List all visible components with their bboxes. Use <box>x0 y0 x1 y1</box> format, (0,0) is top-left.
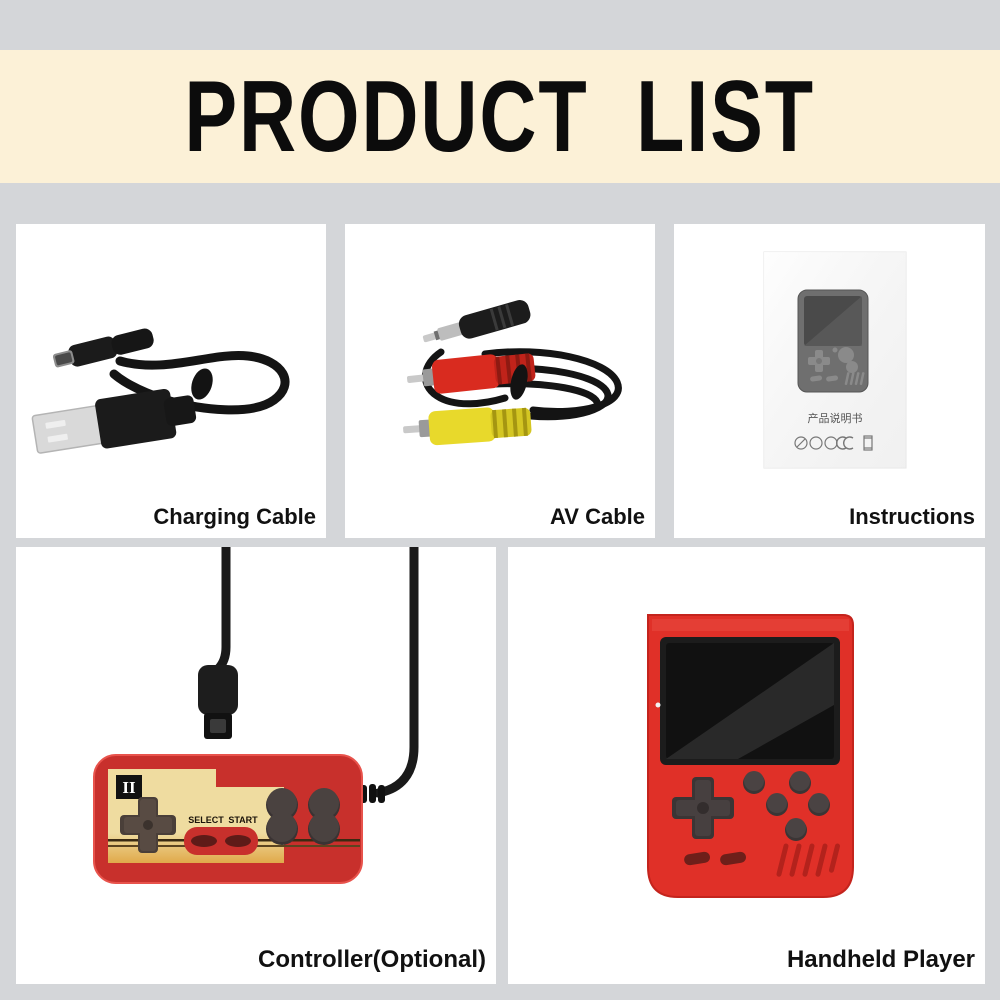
product-label-instructions: Instructions <box>849 504 975 530</box>
product-card-charging-cable[interactable]: Charging Cable <box>16 224 326 538</box>
product-card-handheld[interactable]: Handheld Player <box>508 547 985 984</box>
controller-image: II SELECT START <box>16 547 496 984</box>
product-card-av-cable[interactable]: AV Cable <box>345 224 655 538</box>
page-title: PRODUCT LIST <box>185 66 816 167</box>
product-label-handheld: Handheld Player <box>787 946 975 974</box>
controller-select-label: SELECT <box>188 815 224 825</box>
charging-cable-image <box>16 224 326 538</box>
product-card-controller[interactable]: II SELECT START <box>16 547 496 984</box>
product-card-instructions[interactable]: 产品说明书 <box>674 224 985 538</box>
product-list-page: PRODUCT LIST <box>0 0 1000 1000</box>
controller-player-badge: II <box>122 778 136 797</box>
av-cable-image <box>345 224 655 538</box>
instructions-image: 产品说明书 <box>674 224 985 538</box>
product-label-controller: Controller(Optional) <box>258 946 486 974</box>
header-banner: PRODUCT LIST <box>0 50 1000 183</box>
controller-start-label: START <box>228 815 258 825</box>
handheld-player-image <box>508 547 985 984</box>
booklet-chinese-title: 产品说明书 <box>808 411 863 425</box>
product-label-charging-cable: Charging Cable <box>153 504 316 530</box>
product-label-av-cable: AV Cable <box>550 504 645 530</box>
